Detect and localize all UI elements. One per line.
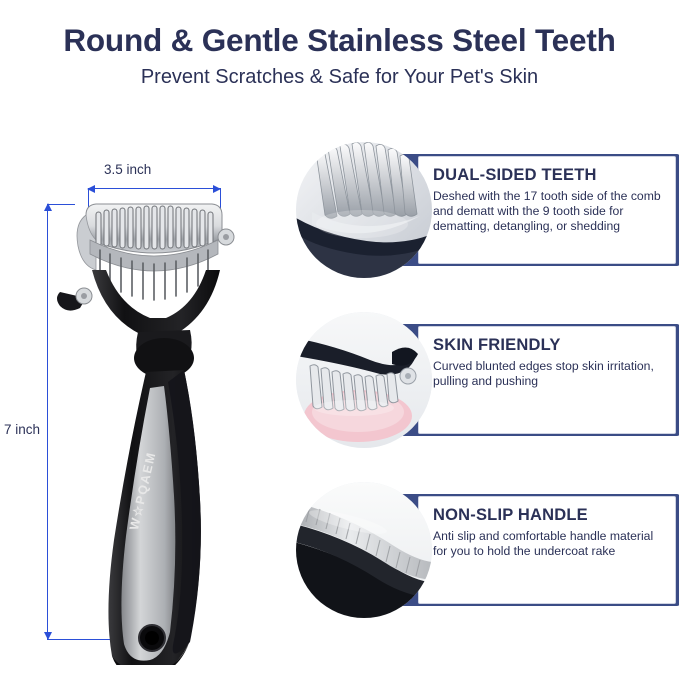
panel-body: Anti slip and comfortable handle materia… [433,529,665,559]
feature-panel-non-slip-handle: NON-SLIP HANDLE Anti slip and comfortabl… [288,480,679,620]
panel-title: DUAL-SIDED TEETH [433,166,665,185]
panel-text-card: DUAL-SIDED TEETH Deshed with the 17 toot… [418,156,676,264]
page-title: Round & Gentle Stainless Steel Teeth [0,22,679,59]
panel-text-card: SKIN FRIENDLY Curved blunted edges stop … [418,326,676,434]
page-subtitle: Prevent Scratches & Safe for Your Pet's … [0,66,679,89]
feature-panels: DUAL-SIDED TEETH Deshed with the 17 toot… [288,140,679,640]
skin-friendly-photo [296,312,432,448]
non-slip-handle-photo [296,482,432,618]
product-feature-graphic: Round & Gentle Stainless Steel Teeth Pre… [0,0,679,679]
panel-title: SKIN FRIENDLY [433,336,665,355]
feature-panel-dual-sided-teeth: DUAL-SIDED TEETH Deshed with the 17 toot… [288,140,679,280]
feature-panel-skin-friendly: SKIN FRIENDLY Curved blunted edges stop … [288,310,679,450]
panel-body: Curved blunted edges stop skin irritatio… [433,359,665,389]
panel-text-card: NON-SLIP HANDLE Anti slip and comfortabl… [418,496,676,604]
panel-title: NON-SLIP HANDLE [433,506,665,525]
panel-body: Deshed with the 17 tooth side of the com… [433,189,665,235]
product-illustration-zone: 3.5 inch 7 inch [0,120,290,665]
dual-sided-teeth-photo [296,142,432,278]
grooming-rake-illustration [0,120,290,665]
